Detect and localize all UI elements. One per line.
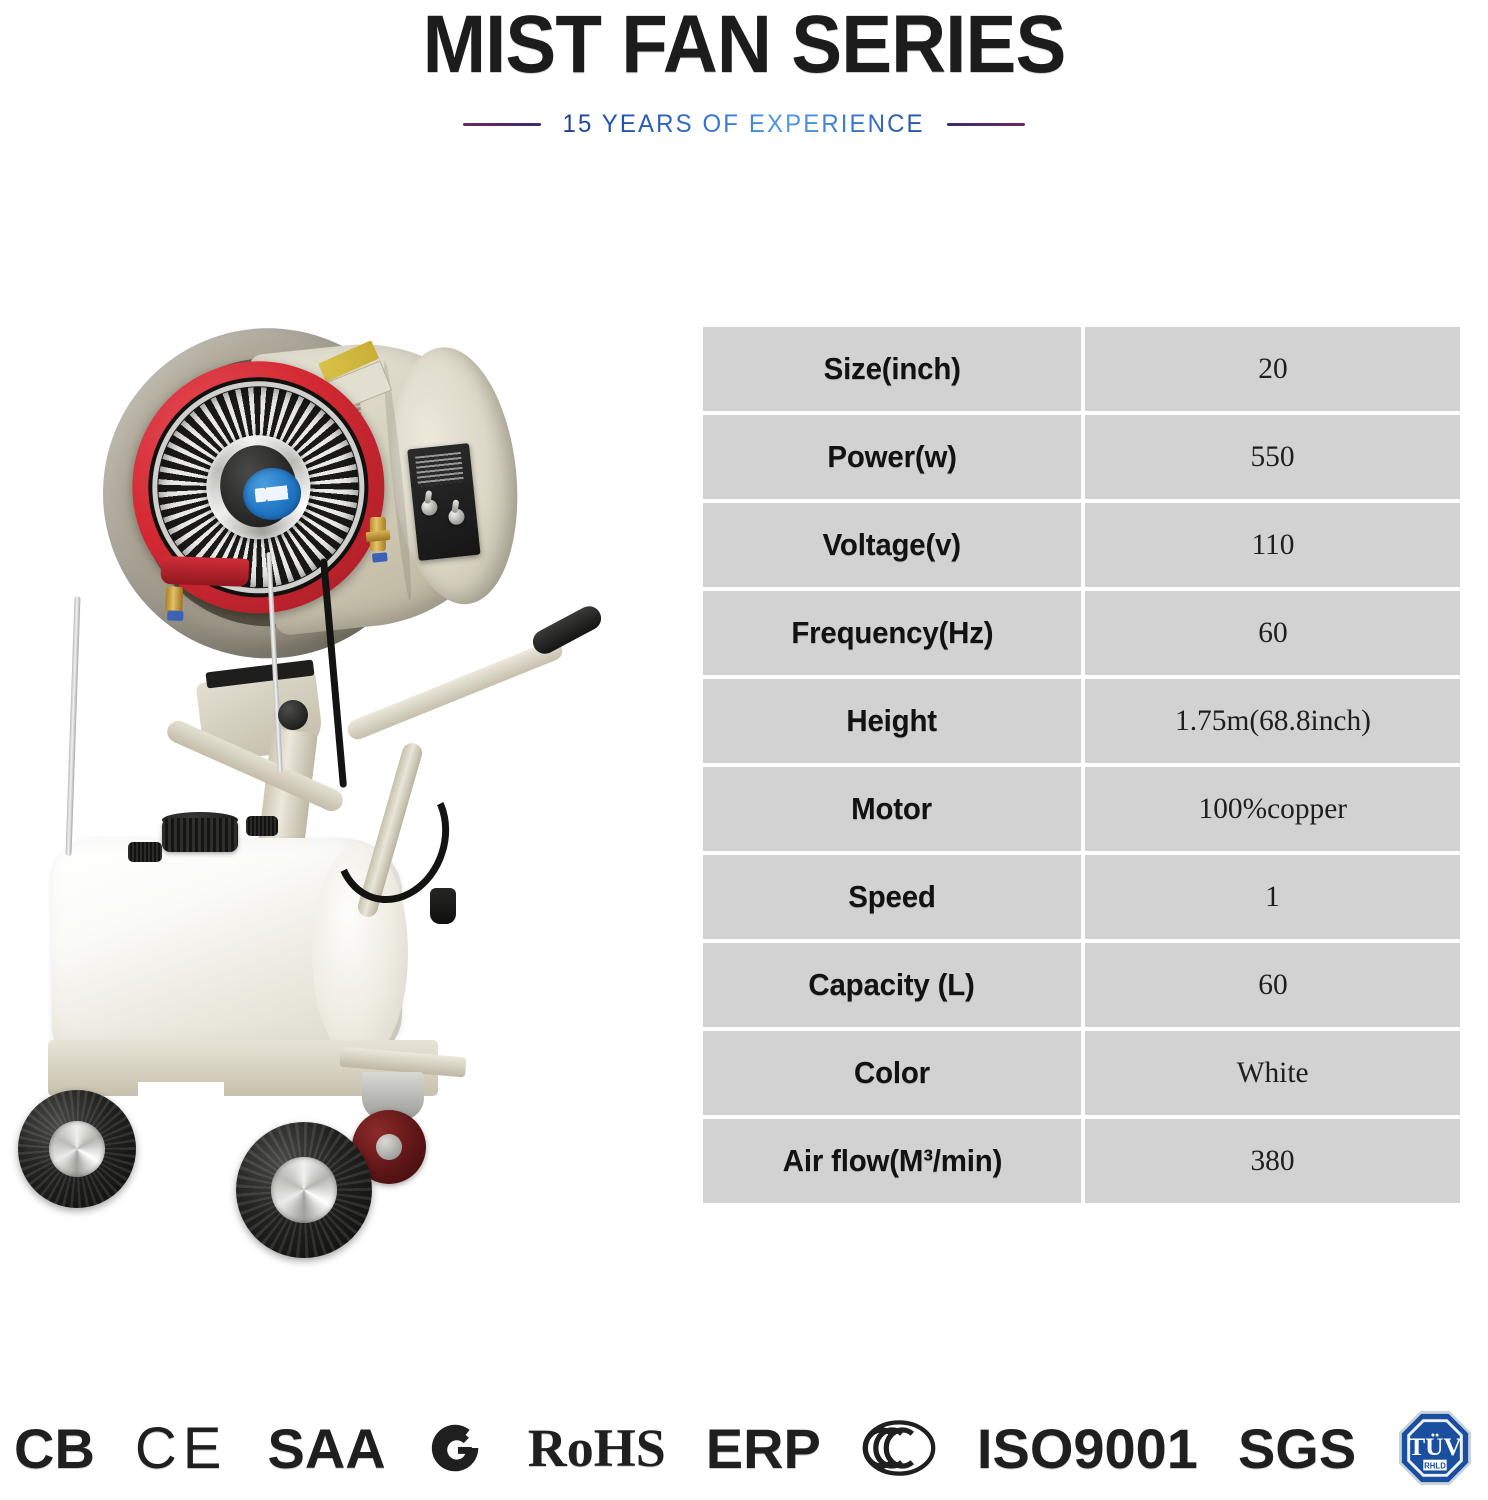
front-wheel (236, 1122, 372, 1258)
subtitle-rule-right (947, 123, 1025, 126)
spec-value-cell: 550 (1085, 415, 1460, 499)
cert-badge-erp: ERP (706, 1416, 821, 1481)
spec-label-text: Power(w) (827, 439, 956, 475)
spec-value-cell: 1.75m(68.8inch) (1085, 679, 1460, 763)
spec-value-text: 20 (1258, 352, 1287, 386)
spec-label-cell: Color (703, 1031, 1081, 1115)
cert-badge-rohs: RoHS (528, 1417, 666, 1479)
ccc-mark-icon (861, 1418, 937, 1478)
table-row: Frequency(Hz)60 (703, 591, 1460, 675)
spec-value-cell: 380 (1085, 1119, 1460, 1203)
cert-badge-sgs: SGS (1238, 1416, 1356, 1481)
svg-text:TÜV: TÜV (1408, 1433, 1462, 1461)
spec-value-text: 100%copper (1198, 792, 1347, 826)
table-row: Capacity (L)60 (703, 943, 1460, 1027)
spec-label-cell: Power(w) (703, 415, 1081, 499)
mist-nozzle-arm (160, 556, 249, 587)
rear-wheel (18, 1090, 136, 1208)
tilt-lock-knob[interactable] (278, 700, 308, 730)
subtitle-rule-left (463, 123, 541, 126)
cert-badge-ccc (861, 1418, 937, 1478)
cert-badge-iso9001: ISO9001 (977, 1416, 1198, 1481)
table-row: Air flow(M³/min)380 (703, 1119, 1460, 1203)
page-title: MIST FAN SERIES (52, 0, 1436, 88)
table-row: Size(inch)20 (703, 327, 1460, 411)
tank-vent-cap-left[interactable] (128, 842, 162, 862)
cert-label: ERP (706, 1416, 821, 1481)
spec-label-text: Size(inch) (823, 351, 960, 387)
spec-label-text: Capacity (L) (809, 967, 975, 1003)
mist-hose-left (65, 596, 80, 856)
svg-text:RHLD: RHLD (1424, 1461, 1446, 1470)
table-row: ColorWhite (703, 1031, 1460, 1115)
spec-label-cell: Voltage(v) (703, 503, 1081, 587)
page-subtitle: 15 YEARS OF EXPERIENCE (563, 110, 925, 139)
power-plug (430, 888, 456, 924)
hose-collar (372, 552, 388, 563)
control-panel[interactable] (407, 443, 480, 561)
fan-toggle-switch[interactable] (421, 499, 439, 517)
table-row: Voltage(v)110 (703, 503, 1460, 587)
certification-bar: CBCESAARoHSERPISO9001SGSTÜVRHLD (0, 1396, 1488, 1500)
spec-label-text: Air flow(M³/min) (782, 1143, 1001, 1179)
tank-vent-cap-right[interactable] (246, 816, 278, 836)
cert-badge-gs (426, 1417, 488, 1479)
spec-label-text: Voltage(v) (823, 527, 961, 563)
handle-grip[interactable] (529, 602, 606, 658)
mist-toggle-switch[interactable] (448, 508, 466, 526)
spec-value-cell: White (1085, 1031, 1460, 1115)
page-header: MIST FAN SERIES 15 YEARS OF EXPERIENCE (0, 0, 1488, 190)
spec-label-cell: Height (703, 679, 1081, 763)
spec-value-text: 110 (1251, 528, 1294, 562)
tank-fill-cap[interactable] (162, 818, 238, 852)
table-row: Height1.75m(68.8inch) (703, 679, 1460, 763)
spec-label-cell: Motor (703, 767, 1081, 851)
spec-value-cell: 60 (1085, 591, 1460, 675)
spec-label-text: Motor (852, 791, 933, 827)
product-image (10, 300, 670, 1310)
spec-label-text: Frequency(Hz) (791, 615, 993, 651)
spec-value-text: 60 (1258, 968, 1287, 1002)
gs-logo-icon (426, 1417, 488, 1479)
nozzle-hose-collar (167, 610, 183, 621)
spec-label-cell: Air flow(M³/min) (703, 1119, 1081, 1203)
spec-value-cell: 110 (1085, 503, 1460, 587)
spec-value-cell: 60 (1085, 943, 1460, 1027)
wheel-tread-icon (236, 1122, 372, 1258)
cert-label: ISO9001 (977, 1416, 1198, 1481)
subtitle-row: 15 YEARS OF EXPERIENCE (0, 110, 1488, 139)
cert-label: CB (14, 1416, 95, 1481)
spec-label-cell: Size(inch) (703, 327, 1081, 411)
table-row: Motor100%copper (703, 767, 1460, 851)
cert-badge-saa: SAA (267, 1416, 385, 1481)
cert-label: SAA (267, 1416, 385, 1481)
cert-badge-ce: CE (135, 1415, 228, 1482)
spec-value-text: 1 (1265, 880, 1280, 914)
spec-value-text: 380 (1250, 1144, 1294, 1178)
brand-logo-mark-icon (254, 485, 289, 502)
table-row: Speed1 (703, 855, 1460, 939)
spec-value-cell: 20 (1085, 327, 1460, 411)
spec-value-text: 1.75m(68.8inch) (1175, 704, 1371, 738)
toggle-lever-icon (424, 490, 432, 504)
cert-label: CE (135, 1415, 228, 1482)
cert-label: SGS (1238, 1416, 1356, 1481)
brand-badge-icon (241, 465, 304, 523)
cert-badge-cb: CB (14, 1416, 95, 1481)
spec-value-cell: 1 (1085, 855, 1460, 939)
spec-label-cell: Frequency(Hz) (703, 591, 1081, 675)
cert-badge-tuv: TÜVRHLD (1396, 1408, 1474, 1488)
spec-label-text: Height (847, 703, 937, 739)
cert-label: RoHS (528, 1417, 666, 1479)
spec-label-text: Color (854, 1055, 930, 1091)
cart-base-notch (138, 1082, 224, 1118)
spec-value-cell: 100%copper (1085, 767, 1460, 851)
spec-label-text: Speed (848, 879, 935, 915)
wheel-tread-icon (18, 1090, 136, 1208)
brass-nozzle-fitting (165, 586, 183, 613)
spec-value-text: 550 (1250, 440, 1294, 474)
tuv-badge-icon: TÜVRHLD (1396, 1408, 1474, 1488)
specification-table: Size(inch)20Power(w)550Voltage(v)110Freq… (703, 327, 1460, 1203)
fan-hub-recess (216, 442, 300, 531)
spec-value-text: White (1237, 1056, 1309, 1090)
spec-label-cell: Capacity (L) (703, 943, 1081, 1027)
table-row: Power(w)550 (703, 415, 1460, 499)
spec-label-cell: Speed (703, 855, 1081, 939)
toggle-lever-icon (452, 499, 460, 513)
spec-value-text: 60 (1258, 616, 1287, 650)
control-panel-label (415, 452, 464, 487)
